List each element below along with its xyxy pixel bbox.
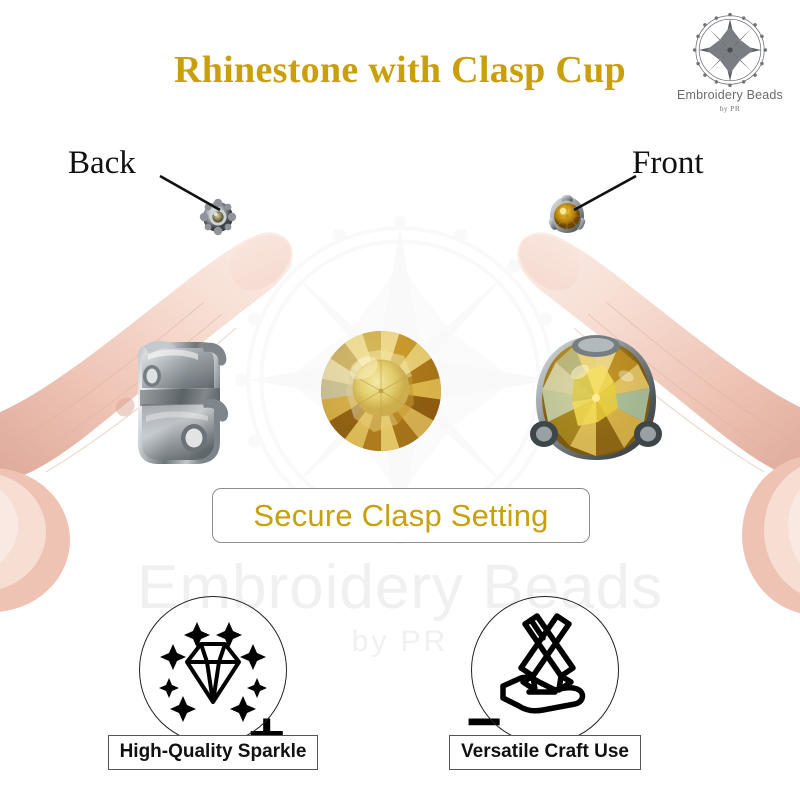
infographic-canvas: Embroidery Beads by PR: [0, 0, 800, 800]
leader-line-front: [566, 172, 638, 214]
diamond-sparkle-icon: [153, 610, 273, 730]
secure-clasp-banner: Secure Clasp Setting: [212, 488, 590, 543]
brand-name-text: Embroidery Beads: [674, 89, 786, 103]
brand-tagline-text: by PR: [674, 104, 786, 113]
feature-icon-circle-sparkle: [139, 596, 287, 744]
feature-label-craft: Versatile Craft Use: [449, 735, 641, 770]
callout-label-back: Back: [68, 145, 136, 182]
clasp-cup-setting: [128, 330, 244, 475]
mandala-star-emblem-icon: [692, 12, 768, 88]
feature-icon-circle-craft: [471, 596, 619, 744]
rhinestone-crystal: [318, 328, 444, 454]
feature-label-sparkle: High-Quality Sparkle: [108, 735, 319, 770]
hand-with-craft-tools-icon: [485, 610, 605, 730]
assembly-equation: +: [0, 330, 800, 475]
fingertip-lower-left-partial: [0, 450, 100, 630]
assembled-sew-on-rhinestone: [526, 330, 666, 470]
callout-label-front: Front: [632, 145, 704, 182]
leader-line-back: [158, 172, 228, 214]
brand-logo: Embroidery Beads by PR: [674, 12, 786, 113]
secure-clasp-banner-text: Secure Clasp Setting: [253, 498, 548, 534]
feature-badge-sparkle: High-Quality Sparkle: [88, 596, 338, 770]
feature-badge-craft: Versatile Craft Use: [420, 596, 670, 770]
